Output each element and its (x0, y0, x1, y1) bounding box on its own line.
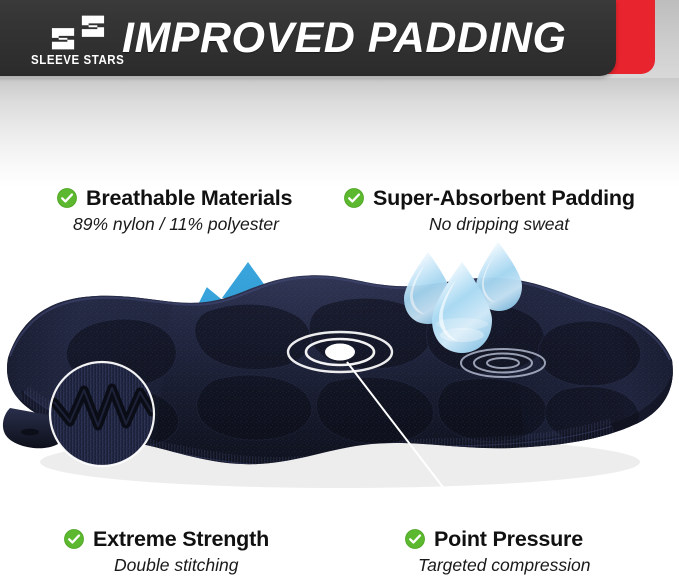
green-check-icon (57, 188, 77, 208)
green-check-icon (344, 188, 364, 208)
brand-name: SLEEVE STARS (31, 53, 124, 67)
feature-subtitle: Targeted compression (418, 554, 591, 576)
feature-subtitle: Double stitching (114, 554, 269, 576)
feature-subtitle: 89% nylon / 11% polyester (73, 213, 292, 235)
feature-breathable: Breathable Materials 89% nylon / 11% pol… (57, 186, 292, 235)
brand-logo: SLEEVE STARS (30, 10, 126, 70)
product-infographic: SLEEVE STARS IMPROVED PADDING Breathable… (0, 0, 679, 581)
product-illustration (0, 240, 679, 510)
stitching-magnifier (50, 362, 154, 466)
s-monogram-icon (50, 14, 106, 52)
feature-title: Breathable Materials (86, 186, 292, 210)
header-banner: SLEEVE STARS IMPROVED PADDING (0, 0, 679, 80)
green-check-icon (64, 529, 84, 549)
background-gradient (0, 78, 679, 188)
feature-title: Point Pressure (434, 527, 583, 551)
feature-absorbent: Super-Absorbent Padding No dripping swea… (344, 186, 635, 235)
feature-title: Extreme Strength (93, 527, 269, 551)
feature-point-pressure: Point Pressure Targeted compression (405, 527, 591, 576)
feature-strength: Extreme Strength Double stitching (64, 527, 269, 576)
feature-title: Super-Absorbent Padding (373, 186, 635, 210)
banner-title: IMPROVED PADDING (122, 9, 592, 67)
green-check-icon (405, 529, 425, 549)
feature-subtitle: No dripping sweat (429, 213, 635, 235)
